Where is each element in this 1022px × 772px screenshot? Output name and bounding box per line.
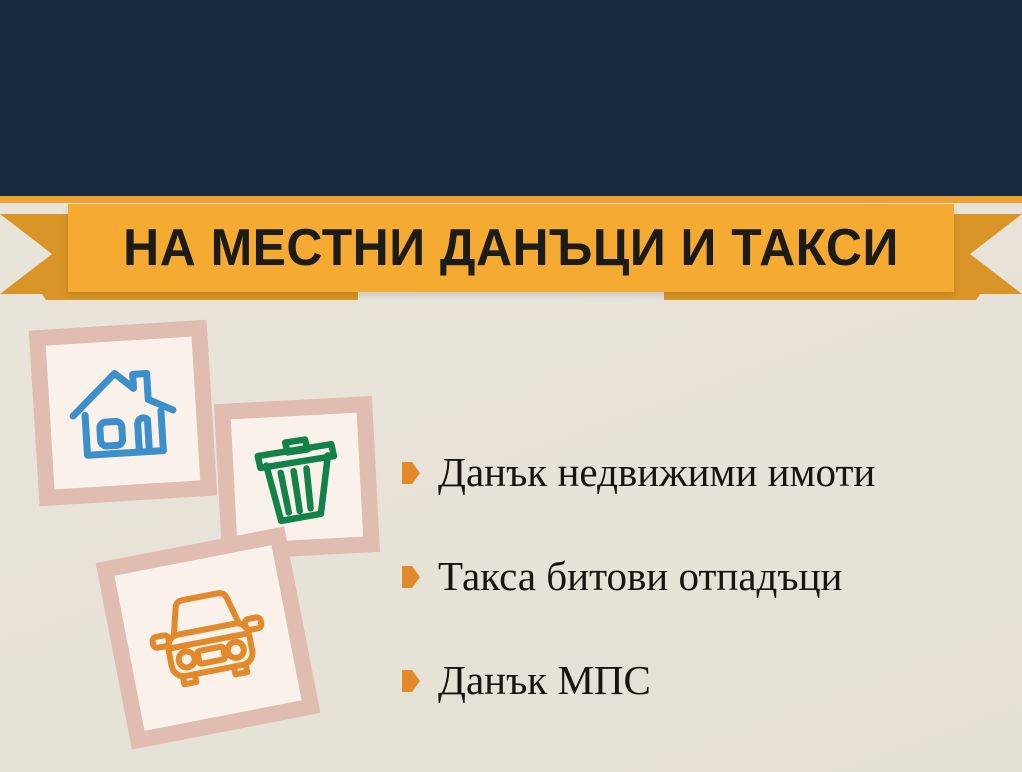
house-icon: [64, 358, 182, 469]
list-item[interactable]: Данък МПС: [402, 628, 1012, 732]
bullet-arrow-icon: [402, 462, 420, 484]
stamp-paper: [114, 545, 301, 731]
list-item[interactable]: Данък недвижими имоти: [402, 420, 1012, 524]
stamp-card-house: [29, 320, 217, 507]
ribbon-face: НА МЕСТНИ ДАНЪЦИ И ТАКСИ: [68, 204, 954, 292]
ribbon-label: НА МЕСТНИ ДАНЪЦИ И ТАКСИ: [123, 221, 899, 275]
stamp-paper: [231, 413, 363, 543]
poster-canvas: община ЕЛИН ПЕЛИН ПРОВЕРКА И ПЛАЩАНЕ НА …: [0, 0, 1022, 772]
header-banner: [0, 0, 1022, 196]
list-item[interactable]: Такса битови отпадъци: [402, 524, 1012, 628]
bullet-arrow-icon: [402, 670, 420, 692]
stamp-card-car: [96, 526, 321, 749]
stamp-paper: [46, 337, 201, 490]
trash-bin-icon: [246, 426, 347, 531]
header-accent-line: [0, 196, 1022, 203]
stamp-perforation-left: [19, 321, 49, 516]
list-item-label: Такса битови отпадъци: [438, 553, 842, 599]
tax-type-list: Данък недвижими имоти Такса битови отпад…: [402, 420, 1012, 732]
bullet-arrow-icon: [402, 566, 420, 588]
stamp-perforation-right: [362, 387, 389, 562]
car-front-icon: [141, 579, 276, 698]
subtitle-ribbon: НА МЕСТНИ ДАНЪЦИ И ТАКСИ: [0, 196, 1022, 308]
list-item-label: Данък МПС: [438, 657, 651, 703]
list-item-label: Данък недвижими имоти: [438, 449, 875, 495]
